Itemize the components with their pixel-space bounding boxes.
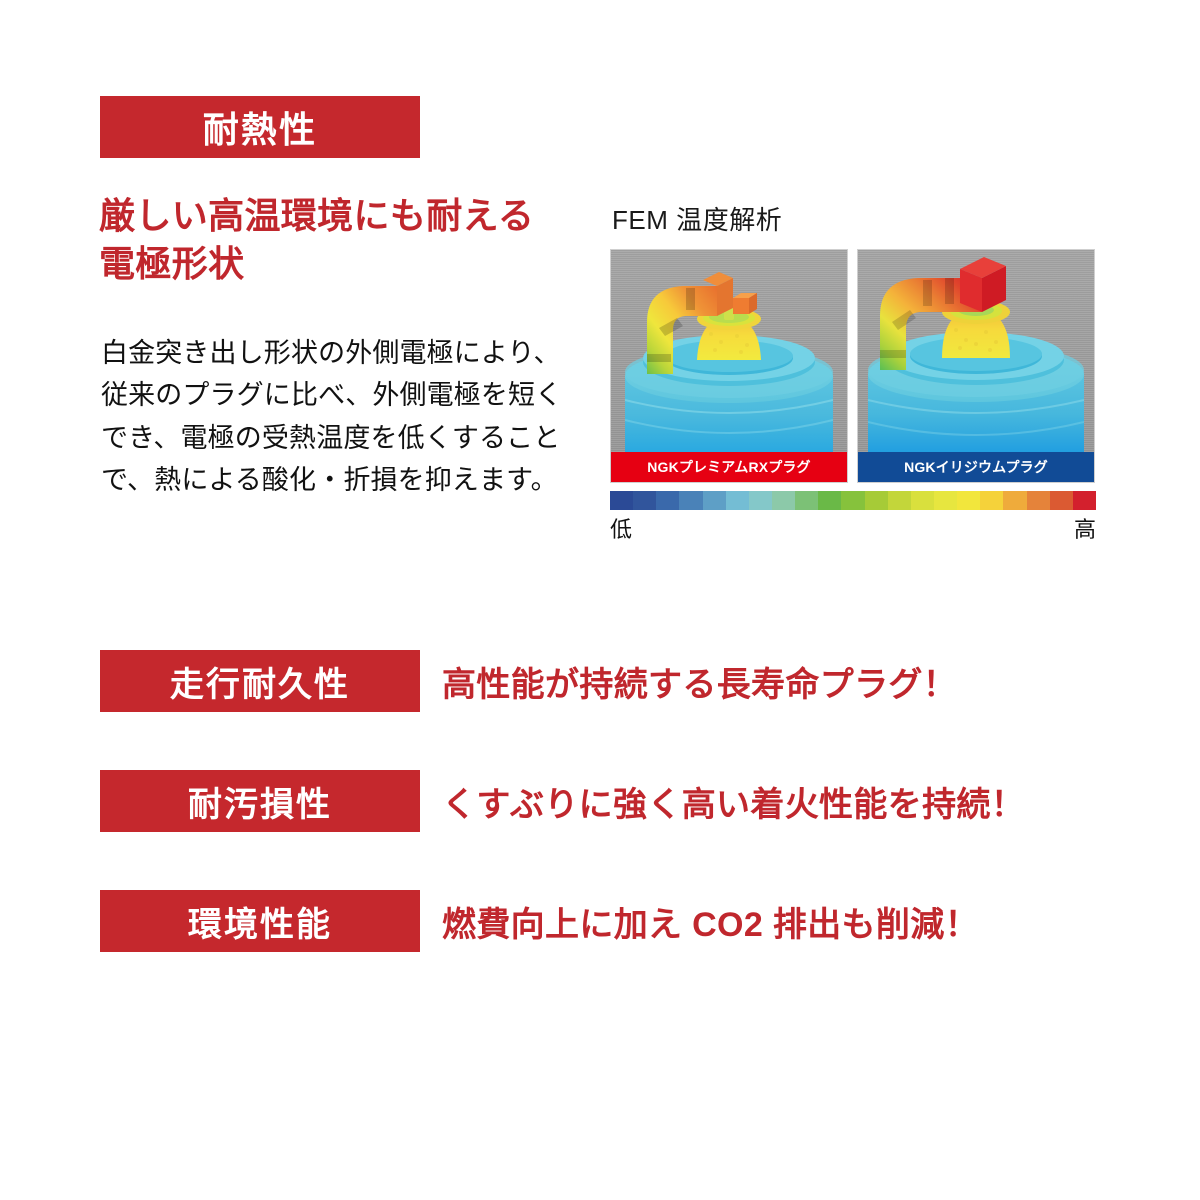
fem-card-row: NGKプレミアムRXプラグ xyxy=(610,249,1096,483)
colorbar-band-13 xyxy=(911,491,934,510)
spark-plug-thermal-render-rx xyxy=(611,250,847,452)
feature-tag-driving-durability: 走行耐久性 xyxy=(100,650,420,712)
page-root: 耐熱性 厳しい高温環境にも耐える電極形状 白金突き出し形状の外側電極により、従来… xyxy=(0,0,1200,1200)
colorbar-band-8 xyxy=(795,491,818,510)
colorbar-band-2 xyxy=(656,491,679,510)
feature-tag-fouling-resistance: 耐汚損性 xyxy=(100,770,420,832)
colorbar-high-label: 高 xyxy=(1074,512,1096,544)
colorbar-band-18 xyxy=(1027,491,1050,510)
colorbar-band-0 xyxy=(610,491,633,510)
fem-caption-iridium: NGKイリジウムプラグ xyxy=(858,452,1094,482)
colorbar-band-19 xyxy=(1050,491,1073,510)
colorbar-band-12 xyxy=(888,491,911,510)
colorbar-band-1 xyxy=(633,491,656,510)
section-body-heat-resistance: 白金突き出し形状の外側電極により、従来のプラグに比べ、外側電極を短くでき、電極の… xyxy=(101,332,579,502)
feature-row-fouling-resistance: 耐汚損性 くすぶりに強く高い着火性能を持続！ xyxy=(100,770,1025,832)
colorbar-band-7 xyxy=(772,491,795,510)
spark-plug-thermal-render-iridium xyxy=(858,250,1094,452)
fem-image-premium-rx xyxy=(611,250,847,452)
section-headline-heat-resistance: 厳しい高温環境にも耐える電極形状 xyxy=(99,192,569,288)
colorbar-band-14 xyxy=(934,491,957,510)
fem-caption-premium-rx: NGKプレミアムRXプラグ xyxy=(611,452,847,482)
colorbar-low-label: 低 xyxy=(610,512,632,544)
colorbar-band-20 xyxy=(1073,491,1096,510)
feature-row-driving-durability: 走行耐久性 高性能が持続する長寿命プラグ！ xyxy=(100,650,957,712)
colorbar-band-4 xyxy=(703,491,726,510)
colorbar-band-16 xyxy=(980,491,1003,510)
feature-tag-environmental-performance: 環境性能 xyxy=(100,890,420,952)
feature-text-fouling-resistance: くすぶりに強く高い着火性能を持続！ xyxy=(442,777,1025,826)
fem-analysis-block: FEM 温度解析 xyxy=(610,200,1096,544)
colorbar-band-11 xyxy=(865,491,888,510)
colorbar-band-6 xyxy=(749,491,772,510)
colorbar-band-3 xyxy=(679,491,702,510)
colorbar-band-17 xyxy=(1003,491,1026,510)
fem-image-iridium xyxy=(858,250,1094,452)
colorbar-band-10 xyxy=(841,491,864,510)
fem-title: FEM 温度解析 xyxy=(612,200,1096,237)
fem-colorbar: 低 高 xyxy=(610,491,1096,544)
feature-row-environmental-performance: 環境性能 燃費向上に加え CO2 排出も削減！ xyxy=(100,890,979,952)
feature-text-environmental-performance: 燃費向上に加え CO2 排出も削減！ xyxy=(442,897,979,946)
section-tag-heat-resistance: 耐熱性 xyxy=(100,96,420,158)
colorbar-band-9 xyxy=(818,491,841,510)
colorbar-band-5 xyxy=(726,491,749,510)
fem-card-iridium: NGKイリジウムプラグ xyxy=(857,249,1095,483)
fem-colorbar-scale xyxy=(610,491,1096,510)
feature-text-driving-durability: 高性能が持続する長寿命プラグ！ xyxy=(442,657,957,706)
fem-colorbar-labels: 低 高 xyxy=(610,512,1096,544)
fem-card-premium-rx: NGKプレミアムRXプラグ xyxy=(610,249,848,483)
colorbar-band-15 xyxy=(957,491,980,510)
